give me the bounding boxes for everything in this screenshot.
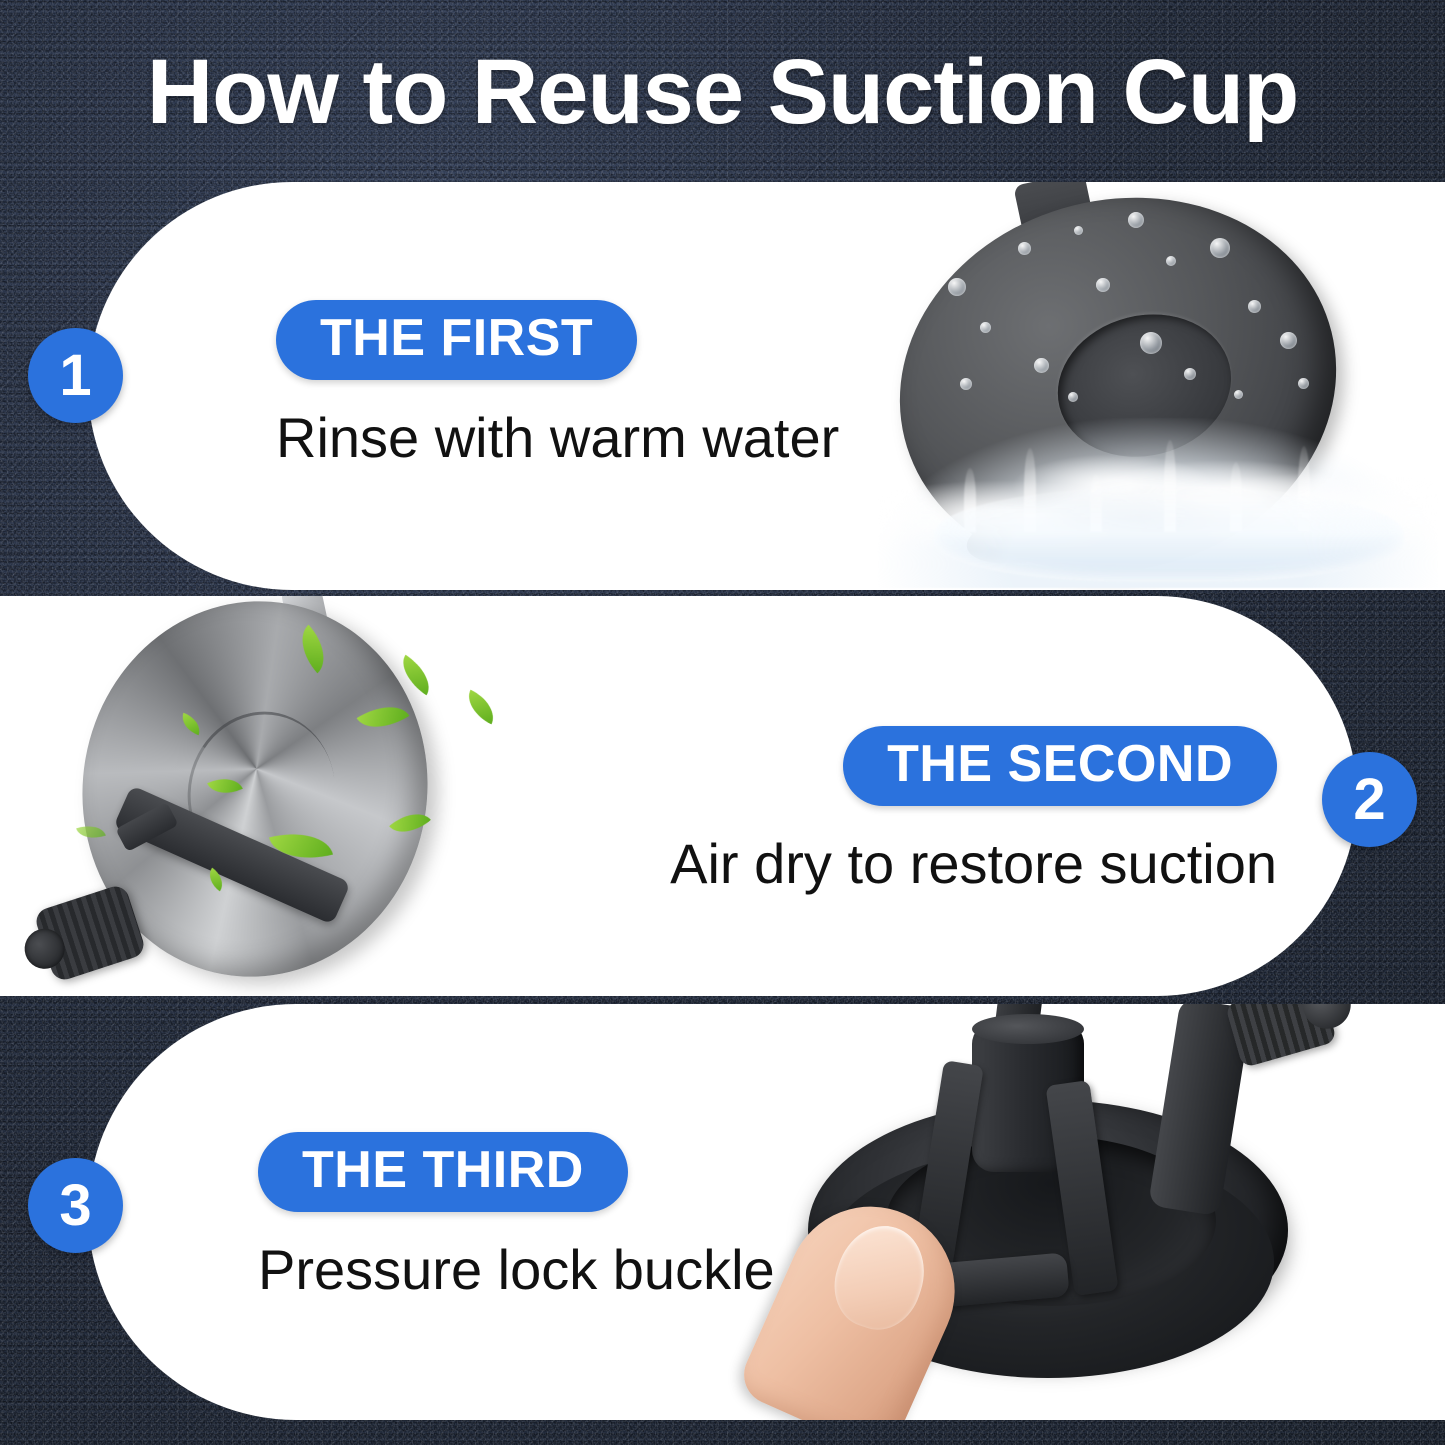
water-droplet [1068,392,1078,402]
water-droplet [1074,226,1083,235]
step-2-pill-label[interactable]: THE SECOND [843,726,1277,806]
step-card-2: THE SECOND Air dry to restore suction [0,596,1357,996]
step-2-text: THE SECOND Air dry to restore suction [617,726,1277,896]
step-1-illustration [828,182,1445,590]
water-droplet [960,378,972,390]
water-droplet [980,322,991,333]
water-droplet [1096,278,1110,292]
step-1-pill-label[interactable]: THE FIRST [276,300,637,380]
step-2-illustration [20,596,540,996]
water-droplet [1128,212,1144,228]
water-droplet [1018,242,1031,255]
water-droplet [1298,378,1309,389]
water-crown [934,486,1404,582]
step-1-caption: Rinse with warm water [276,406,896,470]
step-3-pill-label[interactable]: THE THIRD [258,1132,628,1212]
water-splash [878,418,1438,588]
water-droplet [1248,300,1261,313]
page-title: How to Reuse Suction Cup [0,40,1445,145]
step-3-text: THE THIRD Pressure lock buckle [258,1132,898,1302]
step-badge-2: 2 [1322,752,1417,847]
infographic-page: How to Reuse Suction Cup [0,0,1445,1445]
green-leaf [461,690,501,725]
water-droplet [948,278,966,296]
water-droplet [1034,358,1049,373]
step-badge-1: 1 [28,328,123,423]
water-droplet [1184,368,1196,380]
water-droplet [1280,332,1297,349]
water-droplet [1210,238,1230,258]
step-1-text: THE FIRST Rinse with warm water [276,300,896,470]
step-card-1: THE FIRST Rinse with warm water [88,182,1445,590]
water-droplet [1140,332,1162,354]
step-badge-3: 3 [28,1158,123,1253]
step-card-3: THE THIRD Pressure lock buckle [88,1004,1445,1420]
water-droplet [1166,256,1176,266]
step-2-caption: Air dry to restore suction [617,832,1277,896]
water-droplet [1234,390,1243,399]
step-3-caption: Pressure lock buckle [258,1238,898,1302]
tightening-wheel [1225,1004,1337,1068]
